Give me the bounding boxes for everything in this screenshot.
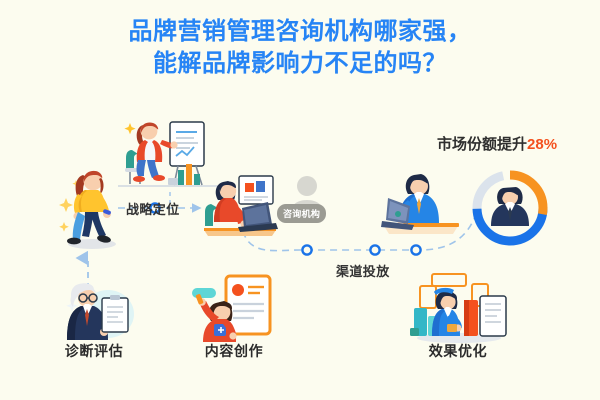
poster-canvas: 品牌营销管理咨询机构哪家强， 能解品牌影响力不足的吗？ xyxy=(0,0,600,400)
flow-label-strategy: 战略定位 xyxy=(126,199,180,218)
writer-document-icon xyxy=(186,272,282,342)
step-caption-optimize: 效果优化 xyxy=(412,341,504,361)
flow-label-channel: 渠道投放 xyxy=(336,261,390,280)
agency-avatar-group: 咨询机构 xyxy=(283,174,331,226)
title-line-2: 能解品牌影响力不足的吗？ xyxy=(0,48,600,80)
title-line-1: 品牌营销管理咨询机构哪家强， xyxy=(0,16,600,48)
market-share-donut xyxy=(468,166,552,250)
page-title: 品牌营销管理咨询机构哪家强， 能解品牌影响力不足的吗？ xyxy=(0,16,600,79)
flow-node-marker-2 xyxy=(302,245,311,254)
flow-node-marker-3 xyxy=(370,245,379,254)
laptop-analyst-icon xyxy=(198,172,282,244)
kpi-label: 市场份额提升 xyxy=(437,136,527,153)
step-caption-diagnosis: 诊断评估 xyxy=(48,341,140,361)
step-caption-content: 内容创作 xyxy=(188,341,280,361)
agency-label: 咨询机构 xyxy=(277,204,326,223)
suit-laptop-icon xyxy=(378,168,464,244)
doctor-clipboard-icon xyxy=(46,276,142,342)
flow-node-marker-4 xyxy=(411,245,420,254)
kpi-value: 28% xyxy=(527,136,557,153)
optimizer-charts-icon xyxy=(404,268,514,344)
kpi-caption: 市场份额提升28% xyxy=(437,133,557,154)
